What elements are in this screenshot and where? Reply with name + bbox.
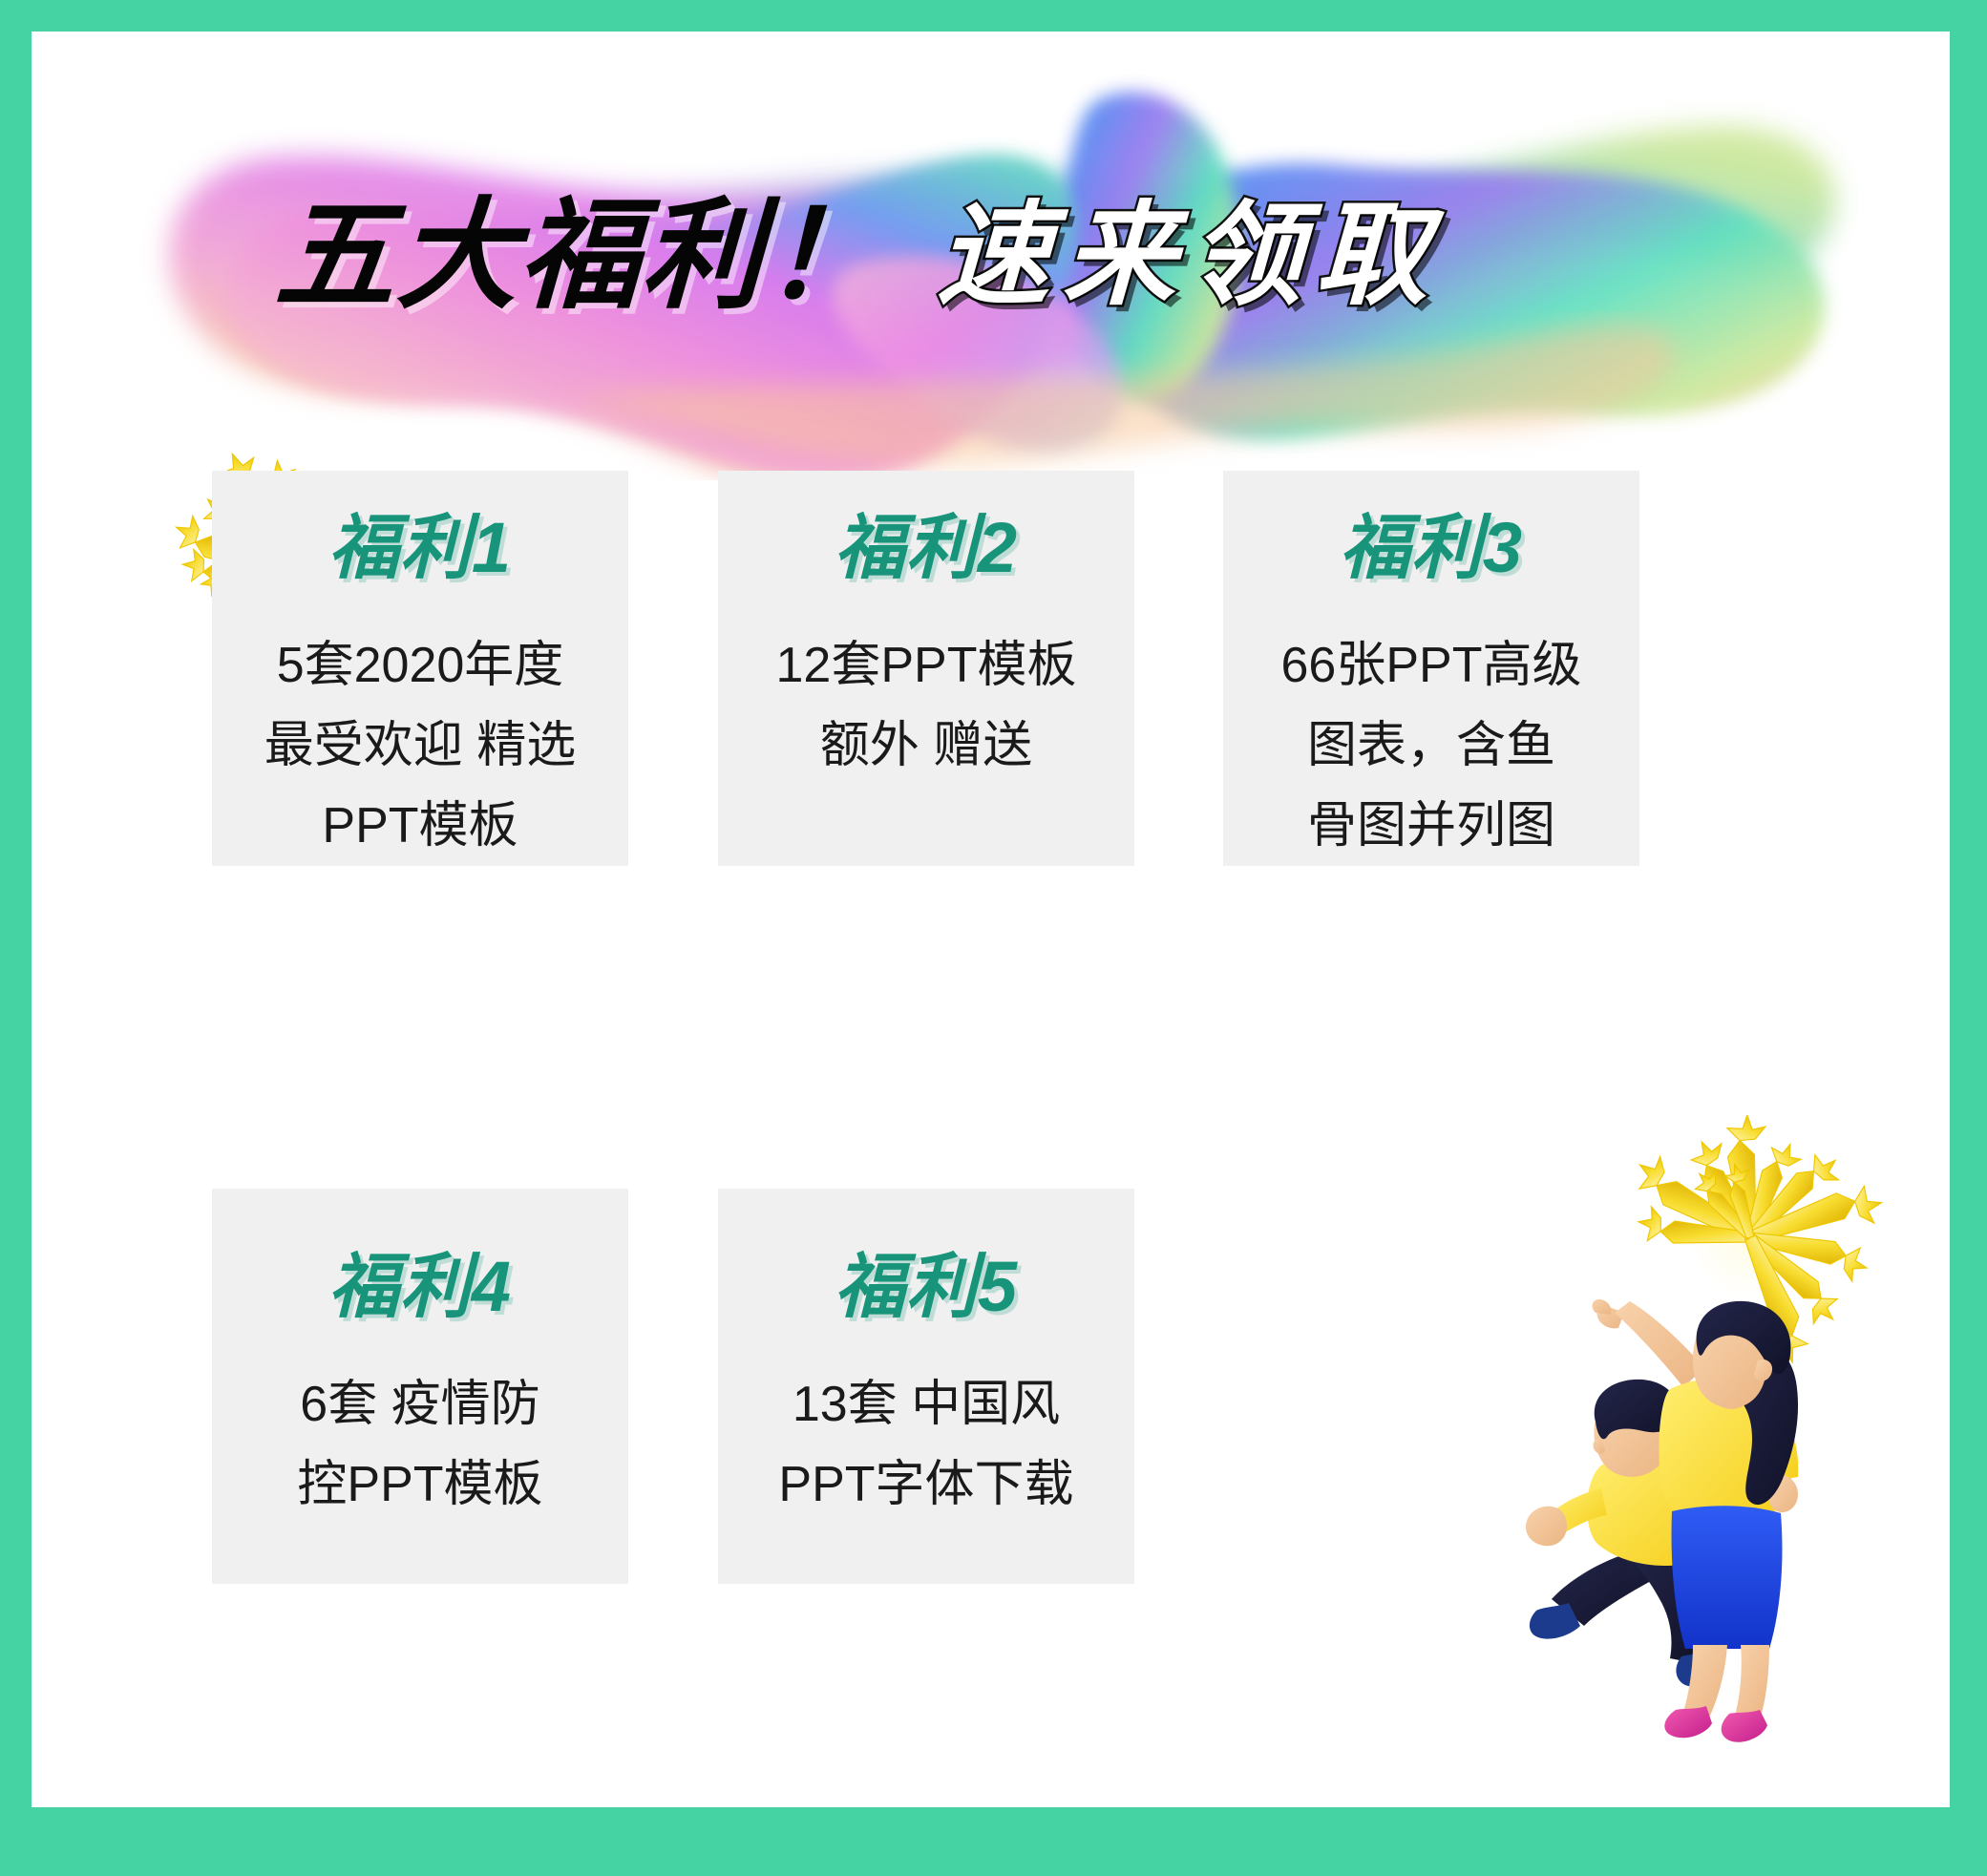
benefit-card-1-title: 福利1 (328, 513, 512, 583)
benefit-card-3-line-3: 骨图并列图 (1281, 786, 1582, 866)
benefit-card-4-line-2: 控PPT模板 (297, 1444, 542, 1525)
benefit-card-2[interactable]: 福利2 12套PPT模板 额外 赠送 (718, 471, 1134, 866)
title-white-text: 速来领取 (936, 200, 1444, 312)
benefit-card-1-line-2: 最受欢迎 精选 (264, 706, 576, 786)
benefit-card-3-body: 66张PPT高级 图表，含鱼 骨图并列图 (1281, 625, 1582, 867)
benefit-card-1-line-1: 5套2020年度 (264, 625, 576, 706)
benefit-card-4-title: 福利4 (328, 1252, 512, 1322)
benefit-card-1[interactable]: 福利1 5套2020年度 最受欢迎 精选 PPT模板 (212, 471, 628, 866)
running-man-figure (1526, 1380, 1723, 1687)
benefit-card-3-line-1: 66张PPT高级 (1281, 625, 1582, 706)
title-black-text: 五大福利！ (273, 196, 888, 316)
benefit-card-5[interactable]: 福利5 13套 中国风 PPT字体下载 (718, 1189, 1134, 1584)
people-celebrating-illustration (1502, 1225, 1903, 1760)
benefit-card-2-body: 12套PPT模板 额外 赠送 (776, 625, 1077, 786)
benefit-card-1-line-3: PPT模板 (264, 786, 576, 866)
poster-title: 五大福利！ 速来领取 (275, 196, 1442, 316)
benefit-card-3[interactable]: 福利3 66张PPT高级 图表，含鱼 骨图并列图 (1223, 471, 1639, 866)
benefit-card-3-title: 福利3 (1340, 513, 1523, 583)
benefit-card-3-line-2: 图表，含鱼 (1281, 706, 1582, 786)
benefit-card-5-line-1: 13套 中国风 (778, 1364, 1073, 1444)
benefit-card-2-line-1: 12套PPT模板 (776, 625, 1077, 706)
firework-burst-icon-right (1607, 1115, 1893, 1392)
benefit-card-2-line-2: 额外 赠送 (776, 706, 1077, 786)
benefit-card-5-title: 福利5 (835, 1252, 1018, 1322)
benefit-card-2-title: 福利2 (835, 513, 1018, 583)
benefit-card-5-line-2: PPT字体下载 (778, 1444, 1073, 1525)
benefit-card-4-body: 6套 疫情防 控PPT模板 (297, 1364, 542, 1525)
pointing-woman-figure (1593, 1299, 1799, 1742)
poster-canvas: 五大福利！ 速来领取 (32, 32, 1950, 1807)
benefit-card-4-line-1: 6套 疫情防 (297, 1364, 542, 1444)
benefit-card-4[interactable]: 福利4 6套 疫情防 控PPT模板 (212, 1189, 628, 1584)
benefit-card-1-body: 5套2020年度 最受欢迎 精选 PPT模板 (264, 625, 576, 867)
benefit-card-5-body: 13套 中国风 PPT字体下载 (778, 1364, 1073, 1525)
